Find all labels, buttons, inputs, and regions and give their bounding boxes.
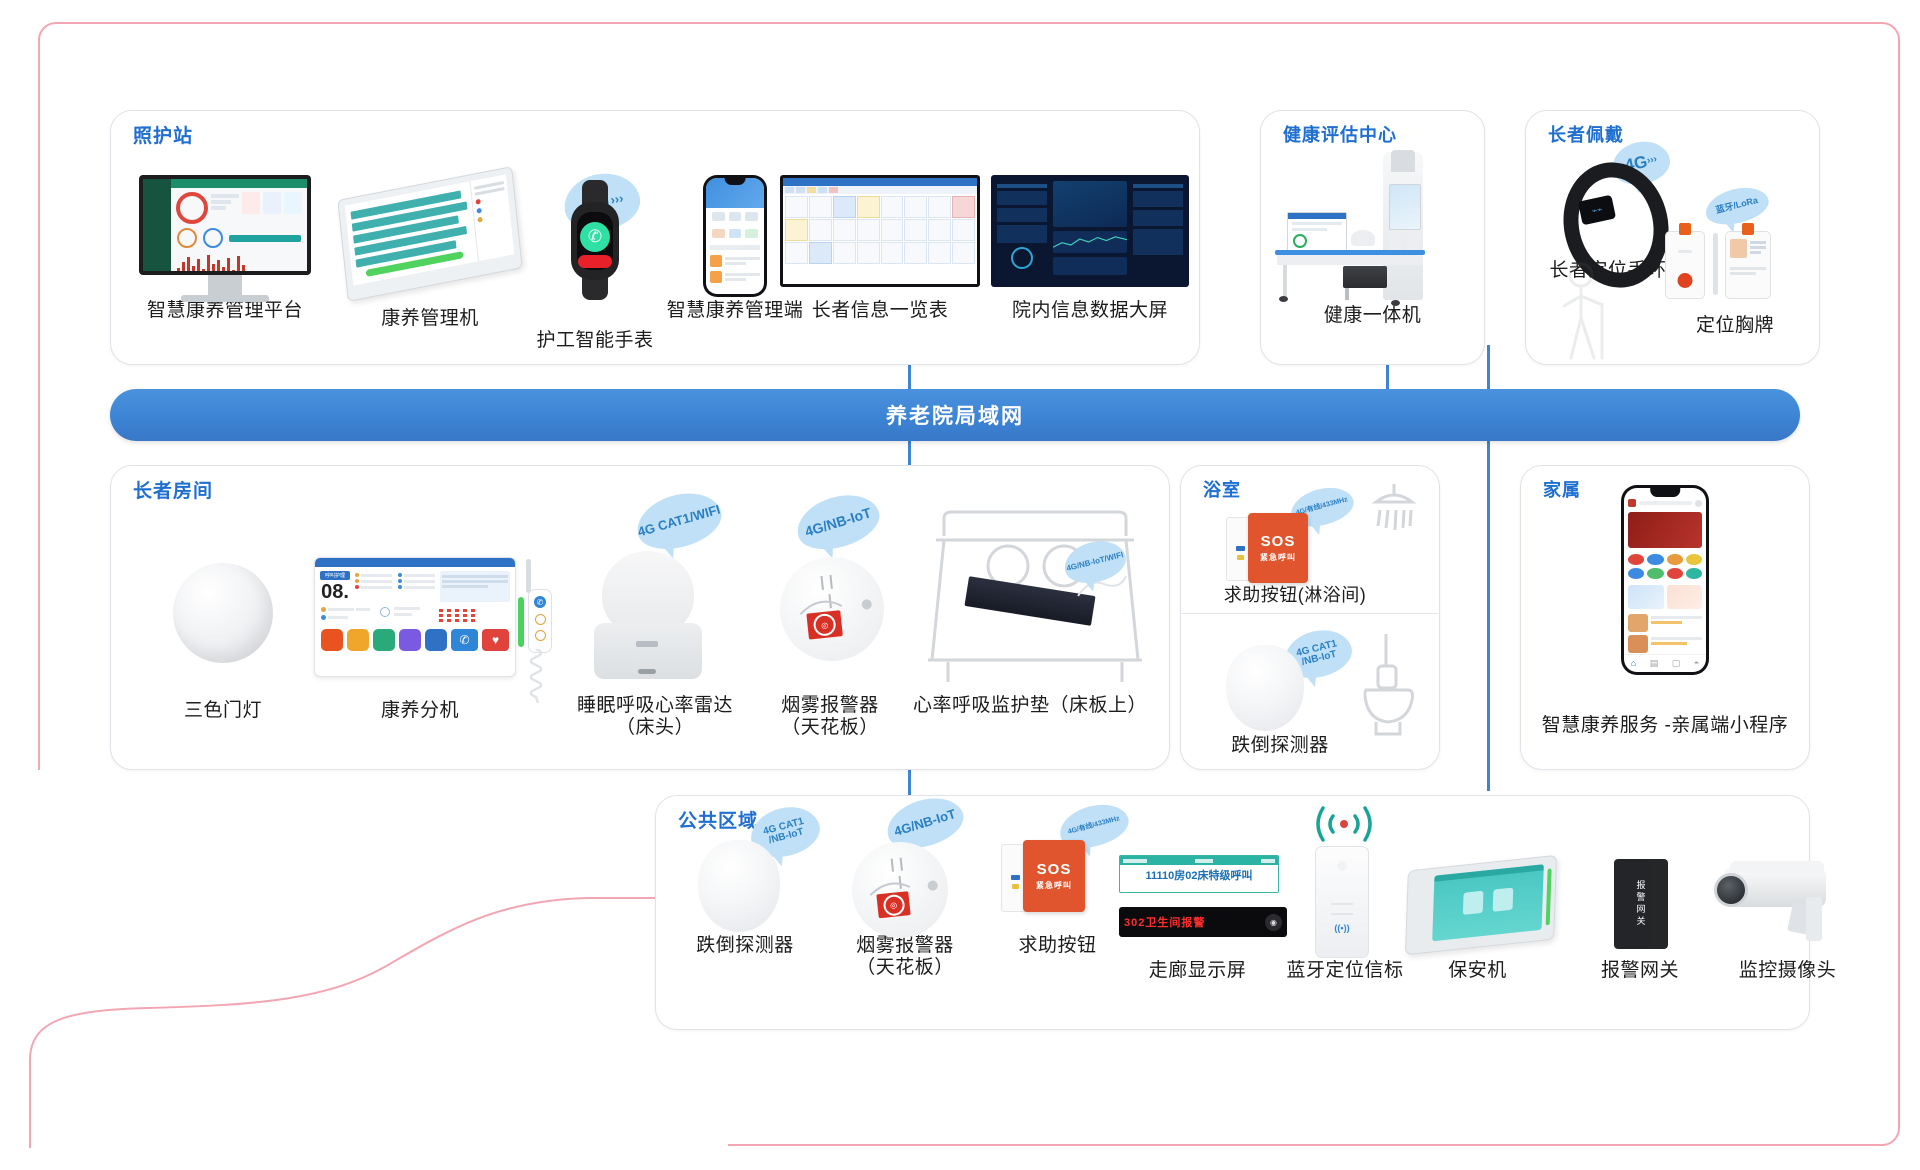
sos-press-button[interactable]	[1678, 273, 1693, 288]
quick-action-icon[interactable]	[373, 629, 395, 651]
tab-order-icon[interactable]: ▢	[1672, 658, 1681, 669]
management-machine-body	[337, 166, 522, 302]
connector-health-center-to-lan	[1386, 365, 1389, 391]
sos-pendant[interactable]	[1665, 231, 1705, 299]
device-label: 跌倒探测器	[660, 935, 830, 957]
quick-action-icon[interactable]	[347, 629, 369, 651]
security-terminal-body	[1405, 855, 1557, 955]
smoke-alarm-body: ◎	[847, 837, 953, 943]
id-badge-card[interactable]	[1725, 231, 1771, 299]
monitor-sidebar	[143, 179, 171, 271]
connector-wearables-to-lan	[1487, 345, 1490, 391]
frame-cutout-mask	[28, 770, 728, 1170]
device-family-miniprogram[interactable]: ⌂ ▤ ▢ ◓ 智慧康养服务 -亲属端小程序	[1525, 485, 1805, 737]
smoke-vent-lines	[889, 857, 908, 872]
connector-lan-to-family	[1487, 441, 1490, 791]
smoke-vent-lines	[819, 574, 838, 590]
extension-terminal-body: 呼叫护理 08.	[314, 557, 516, 677]
gateway-face-text: 报警网关	[1635, 880, 1648, 928]
dashboard-header	[171, 179, 307, 188]
beacon-body: ((•))	[1315, 846, 1369, 958]
panel-care-station-title: 照护站	[133, 121, 193, 148]
monitor-stand	[208, 275, 242, 295]
smoke-alarm-body: ◎	[775, 552, 889, 666]
fall-detector-body	[698, 840, 780, 932]
bathroom-divider	[1180, 613, 1440, 614]
device-fall-detector[interactable]: 4G CAT1 /NB-IoT 跌倒探测器	[660, 810, 830, 957]
call-button[interactable]: ✆	[451, 629, 478, 651]
device-label: 报警网关	[1560, 960, 1720, 982]
device-label: 定位胸牌	[1655, 315, 1815, 337]
device-nurse-smart-watch[interactable]: 4G ››› ✆ 护工智能手表	[520, 150, 670, 352]
device-fall-detector-toilet[interactable]: 4G CAT1 /NB-IoT 跌倒探测器	[1190, 625, 1370, 757]
bluetooth-signal-icon	[1307, 800, 1381, 844]
camera-sunshield	[1730, 861, 1824, 873]
fall-detector-body	[1226, 645, 1304, 731]
panel-health-center-title: 健康评估中心	[1283, 121, 1397, 147]
phone-notch	[1650, 488, 1680, 497]
sos-main-text: SOS	[1261, 533, 1296, 550]
bubble-label: 4G/NB-IoT	[803, 505, 873, 539]
quick-action-icon[interactable]	[321, 629, 343, 651]
sos-button[interactable]: ♥	[482, 629, 509, 651]
radar-indicator	[638, 669, 656, 674]
smoke-alarm-badge: ◎	[876, 891, 910, 918]
data-wall-content	[994, 178, 1186, 284]
smoke-sensor-dot	[861, 599, 872, 610]
room-number: 08.	[320, 582, 350, 602]
camera-wall-bracket	[1806, 897, 1822, 941]
bubble-label: 4G CAT1 /NB-IoT	[762, 816, 808, 847]
terminal-status-strip	[1546, 868, 1552, 925]
device-cctv-camera[interactable]: 监控摄像头	[1700, 845, 1875, 982]
led-alarm-text: 302卫生间报警	[1124, 914, 1205, 930]
device-label: 睡眠呼吸心率雷达 （床头）	[560, 695, 750, 740]
badge-clip	[1742, 223, 1754, 235]
signal-bubble-4g-nbiot: 4G/NB-IoT	[791, 486, 886, 558]
family-phone-body: ⌂ ▤ ▢ ◓	[1621, 485, 1709, 675]
lanyard	[1713, 233, 1718, 295]
device-care-management-machine[interactable]: 康养管理机	[330, 175, 530, 330]
connector-care-station-to-lan	[908, 365, 911, 391]
device-label: 康养管理机	[330, 308, 530, 330]
device-smoke-alarm-ceiling-public[interactable]: 4G/NB-IoT ◎ 烟雾报警器 （天花板）	[820, 800, 990, 980]
card-icon[interactable]	[1463, 891, 1484, 915]
device-label: 心率呼吸监护垫（床板上）	[900, 695, 1160, 717]
monitor-screen	[139, 175, 311, 275]
device-label: 跌倒探测器	[1190, 735, 1370, 757]
lan-label: 养老院局域网	[886, 400, 1024, 430]
coiled-cable	[522, 649, 552, 703]
device-label: 监控摄像头	[1700, 960, 1875, 982]
smoke-alarm-badge: ◎	[806, 610, 843, 639]
signal-bubble-4g-cat1-wifi: 4G CAT1/WIFI	[630, 484, 727, 558]
avatar	[1730, 239, 1747, 258]
device-help-button-shower[interactable]: 4G/有线/433MHz SOS 紧急呼叫 求助按钮(淋浴间)	[1190, 495, 1400, 606]
quick-action-icon[interactable]	[399, 629, 421, 651]
handset-body[interactable]: ✆	[528, 589, 552, 653]
radar-port	[636, 641, 658, 647]
door-lamp-dome	[173, 563, 273, 663]
device-label: 求助按钮(淋浴间)	[1190, 585, 1400, 606]
device-label: 护工智能手表	[520, 330, 670, 352]
monitor-dashboard	[171, 179, 307, 271]
device-label: 健康一体机	[1265, 305, 1480, 327]
management-machine-screen	[345, 174, 514, 285]
device-alarm-gateway[interactable]: 报警网关 报警网关	[1560, 845, 1720, 982]
device-label: 三色门灯	[128, 700, 318, 722]
sos-sub-text: 紧急呼叫	[1260, 552, 1296, 563]
sos-call-button[interactable]: SOS 紧急呼叫	[1023, 840, 1085, 912]
alarm-gateway-body: 报警网关	[1614, 859, 1668, 949]
bubble-label: 4G CAT1/WIFI	[636, 503, 721, 540]
monitor-base	[181, 295, 269, 302]
camera-lens	[1714, 873, 1748, 907]
bedside-handset[interactable]	[526, 559, 531, 593]
device-health-all-in-one[interactable]: 健康一体机	[1265, 150, 1480, 327]
device-label: 烟雾报警器 （天花板）	[740, 695, 920, 740]
phone-screen	[706, 178, 764, 294]
device-smart-care-platform[interactable]: 智慧康养管理平台	[120, 175, 330, 322]
health-kiosk-art	[1265, 150, 1480, 305]
elder-walking-silhouette	[1548, 262, 1626, 362]
face-icon[interactable]	[1493, 888, 1514, 912]
nursing-home-lan-bar: 养老院局域网	[110, 389, 1800, 441]
bubble-label: 4G/有线/433MHz	[1067, 816, 1120, 837]
dashboard-bar-chart	[171, 248, 307, 271]
device-in-house-data-wall[interactable]: 院内信息数据大屏	[985, 175, 1195, 322]
sos-sub-text: 紧急呼叫	[1036, 880, 1072, 891]
quick-action-icon[interactable]	[425, 629, 447, 651]
device-label: 智慧康养服务 -亲属端小程序	[1525, 715, 1805, 737]
promo-banner	[1628, 512, 1702, 548]
watch-body: ✆	[571, 202, 619, 280]
sos-button[interactable]	[578, 255, 612, 268]
smoke-sensor-dot	[927, 880, 938, 891]
overview-content	[783, 178, 977, 284]
device-smoke-alarm-ceiling-room[interactable]: 4G/NB-IoT ◎ 烟雾报警器 （天花板）	[740, 495, 920, 740]
device-label: 智慧康养管理平台	[120, 300, 330, 322]
call-icon: ✆	[580, 222, 610, 252]
device-label: 烟雾报警器 （天花板）	[820, 935, 990, 980]
device-security-terminal[interactable]: 保安机	[1390, 845, 1565, 982]
handset-green-strip	[518, 597, 524, 647]
tab-profile-icon[interactable]: ◓	[1694, 658, 1699, 669]
bed-illustration: 4G/NB-IoT/WIFI	[900, 490, 1160, 695]
tab-grid-icon[interactable]: ▤	[1650, 658, 1659, 669]
sos-call-button[interactable]: SOS 紧急呼叫	[1248, 513, 1308, 583]
bubble-label: 4G CAT1 /NB-IoT	[1295, 639, 1340, 669]
pendant-clip	[1679, 223, 1691, 235]
panel-elder-room-title: 长者房间	[133, 476, 213, 503]
device-label: 长者信息一览表	[760, 300, 1000, 322]
data-wall-screen	[991, 175, 1189, 287]
connector-elder-room-to-public	[908, 770, 911, 798]
phone-body	[703, 175, 767, 297]
device-locating-badge[interactable]: 蓝牙/LoRa 定位胸牌	[1655, 195, 1815, 337]
security-terminal-screen	[1432, 864, 1544, 941]
bubble-label: 4G/NB-IoT/WIFI	[1066, 551, 1125, 573]
tab-home-icon[interactable]: ⌂	[1631, 658, 1636, 669]
sos-main-text: SOS	[1037, 861, 1072, 878]
family-phone-screen: ⌂ ▤ ▢ ◓	[1624, 488, 1706, 672]
device-label: 保安机	[1390, 960, 1565, 982]
overview-screen	[780, 175, 980, 287]
bubble-label: 4G/NB-IoT	[893, 807, 958, 839]
device-care-extension-terminal[interactable]: 呼叫护理 08.	[300, 525, 540, 722]
device-sleep-breath-heart-radar[interactable]: 4G CAT1/WIFI 睡眠呼吸心率雷达 （床头）	[560, 495, 750, 740]
device-label: 院内信息数据大屏	[985, 300, 1195, 322]
device-label: 康养分机	[300, 700, 540, 722]
device-elder-info-overview[interactable]: 长者信息一览表	[760, 175, 1000, 322]
bubble-label: 蓝牙/LoRa	[1715, 196, 1759, 216]
device-tri-color-door-lamp[interactable]: 三色门灯	[128, 525, 318, 722]
device-heart-breath-monitor-pad[interactable]: 4G/NB-IoT/WIFI 心率呼吸监护垫（床板上）	[900, 490, 1160, 717]
